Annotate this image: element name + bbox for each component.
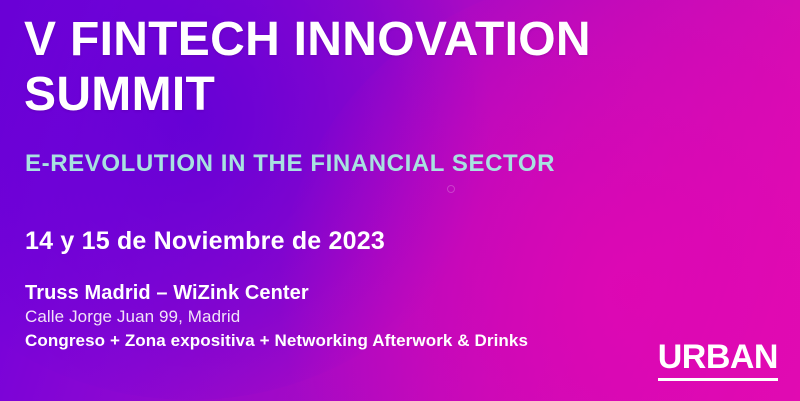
event-venue: Truss Madrid – WiZink Center Calle Jorge… [25,281,625,353]
event-subtitle: E-REVOLUTION IN THE FINANCIAL SECTOR [25,149,555,179]
venue-address: Calle Jorge Juan 99, Madrid [25,305,625,328]
urban-logo: URBAN [658,339,778,381]
urban-logo-text: URBAN [658,339,778,375]
event-title-line-1: V FINTECH INNOVATION [24,12,764,67]
event-title: V FINTECH INNOVATION SUMMIT [24,12,764,122]
banner-content: V FINTECH INNOVATION SUMMIT E-REVOLUTION… [0,0,800,401]
event-title-line-2: SUMMIT [24,67,764,122]
event-banner: V FINTECH INNOVATION SUMMIT E-REVOLUTION… [0,0,800,401]
venue-program: Congreso + Zona expositiva + Networking … [25,329,625,353]
event-dates: 14 y 15 de Noviembre de 2023 [25,226,385,256]
urban-logo-underline [658,378,778,381]
circle-artifact-icon [447,185,455,193]
venue-name: Truss Madrid – WiZink Center [25,281,625,305]
